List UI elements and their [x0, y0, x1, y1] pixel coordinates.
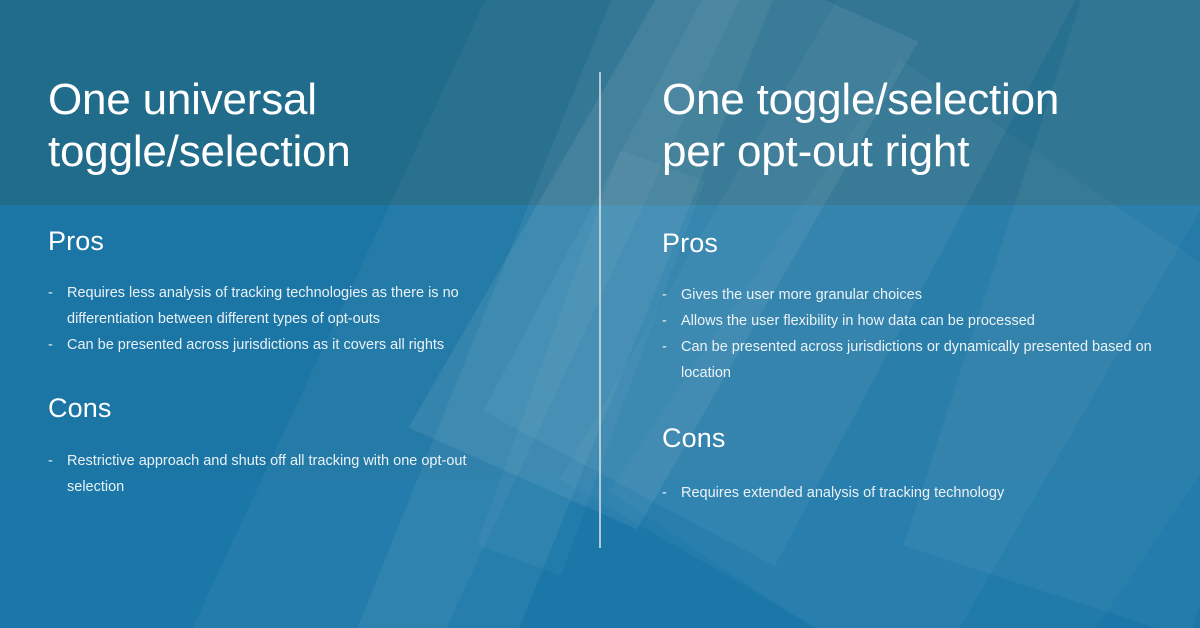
- columns-container: One universal toggle/selection Pros - Re…: [0, 0, 1200, 628]
- list-item: - Can be presented across jurisdictions …: [48, 332, 527, 358]
- pros-heading-right: Pros: [662, 227, 1200, 259]
- list-item: - Restrictive approach and shuts off all…: [48, 448, 527, 500]
- column-title-left: One universal toggle/selection: [48, 0, 600, 178]
- list-item-text: Requires extended analysis of tracking t…: [681, 485, 1004, 501]
- list-item-text: Gives the user more granular choices: [681, 287, 922, 303]
- cons-list-right: - Requires extended analysis of tracking…: [662, 480, 1200, 506]
- list-item: - Requires extended analysis of tracking…: [662, 480, 1181, 506]
- list-item-text: Restrictive approach and shuts off all t…: [67, 453, 467, 495]
- column-divider: [599, 72, 601, 548]
- list-item: - Can be presented across jurisdictions …: [662, 334, 1181, 386]
- bullet-dash-icon: -: [48, 448, 53, 474]
- pros-list-right: - Gives the user more granular choices -…: [662, 282, 1200, 386]
- list-item-text: Can be presented across jurisdictions as…: [67, 337, 444, 353]
- list-item-text: Can be presented across jurisdictions or…: [681, 339, 1152, 381]
- cons-list-left: - Restrictive approach and shuts off all…: [48, 448, 600, 500]
- bullet-dash-icon: -: [662, 282, 667, 308]
- list-item: - Allows the user flexibility in how dat…: [662, 308, 1181, 334]
- pros-list-left: - Requires less analysis of tracking tec…: [48, 280, 600, 358]
- column-per-right-toggle: One toggle/selection per opt-out right P…: [600, 0, 1200, 628]
- bullet-dash-icon: -: [662, 308, 667, 334]
- comparison-slide: One universal toggle/selection Pros - Re…: [0, 0, 1200, 628]
- column-title-right: One toggle/selection per opt-out right: [662, 0, 1200, 178]
- list-item: - Requires less analysis of tracking tec…: [48, 280, 527, 332]
- list-item: - Gives the user more granular choices: [662, 282, 1181, 308]
- bullet-dash-icon: -: [662, 480, 667, 506]
- bullet-dash-icon: -: [662, 334, 667, 360]
- pros-heading-left: Pros: [48, 225, 600, 257]
- cons-heading-left: Cons: [48, 392, 600, 424]
- cons-heading-right: Cons: [662, 422, 1200, 454]
- bullet-dash-icon: -: [48, 280, 53, 306]
- bullet-dash-icon: -: [48, 332, 53, 358]
- list-item-text: Requires less analysis of tracking techn…: [67, 285, 459, 327]
- list-item-text: Allows the user flexibility in how data …: [681, 313, 1035, 329]
- column-universal-toggle: One universal toggle/selection Pros - Re…: [0, 0, 600, 628]
